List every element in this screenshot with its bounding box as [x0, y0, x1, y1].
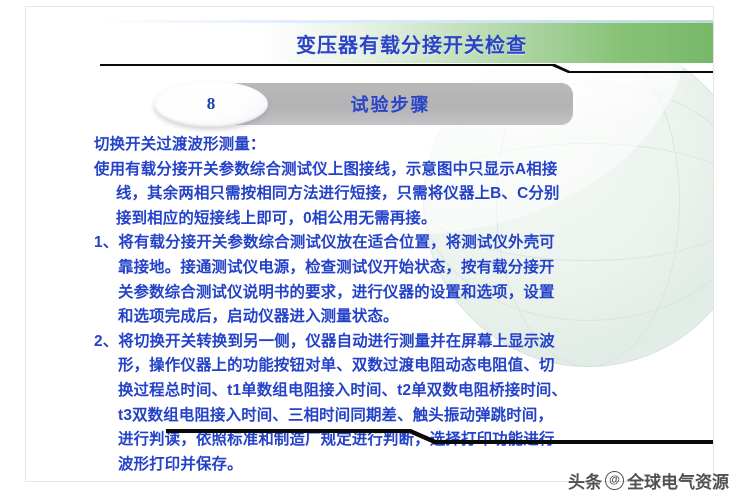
page-title: 变压器有载分接开关检查 — [99, 23, 714, 63]
section-number: 8 — [207, 94, 216, 114]
body-heading: 切换开关过渡波形测量： — [94, 133, 674, 158]
list-item-marker: 2、 — [94, 333, 118, 350]
list-item: 2、将切换开关转换到另一侧，仪器自动进行测量并在屏幕上显示波 — [94, 330, 674, 355]
list-item-line: 关参数综合测试仪说明书的要求，进行仪器的设置和选项，设置 — [94, 281, 674, 306]
intro-line: 接到相应的短接线上即可，0相公用无需再接。 — [94, 207, 674, 232]
at-icon: @ — [605, 471, 624, 490]
list-item-line: 换过程总时间、t1单数组电阻接入时间、t2单双数电阻桥接时间、 — [94, 379, 674, 404]
list-item-text: 将切换开关转换到另一侧，仪器自动进行测量并在屏幕上显示波 — [118, 333, 555, 350]
slide-page: 变压器有载分接开关检查 试验步骤 8 切换开关过渡波形测量： 使用有载分接开关参… — [25, 6, 714, 482]
list-item: 1、将有载分接开关参数综合测试仪放在适合位置，将测试仪外壳可 — [94, 231, 674, 256]
footer-brand-name: 全球电气资源 — [627, 468, 729, 493]
section-number-badge: 8 — [154, 81, 268, 127]
list-item-line: 靠接地。接通测试仪电源，检查测试仪开始状态，按有载分接开 — [94, 256, 674, 281]
footer-brand-prefix: 头条 — [568, 468, 602, 493]
footer-watermark: 头条 @ 全球电气资源 — [568, 468, 729, 493]
header-underline-shape — [100, 63, 714, 73]
footer-zigzag-shape — [81, 425, 714, 447]
intro-line: 线，其余两相只需按相同方法进行短接，只需将仪器上B、C分别 — [94, 182, 674, 207]
list-item-line: 和选项完成后，启动仪器进入测量状态。 — [94, 305, 674, 330]
list-item-marker: 1、 — [94, 234, 118, 251]
intro-line: 使用有载分接开关参数综合测试仪上图接线，示意图中只显示A相接 — [94, 158, 674, 183]
list-item-text: 将有载分接开关参数综合测试仪放在适合位置，将测试仪外壳可 — [118, 234, 555, 251]
list-item-line: 形，操作仪器上的功能按钮对单、双数过渡电阻动态电阻值、切 — [94, 354, 674, 379]
slide-root: 变压器有载分接开关检查 试验步骤 8 切换开关过渡波形测量： 使用有载分接开关参… — [0, 0, 741, 499]
